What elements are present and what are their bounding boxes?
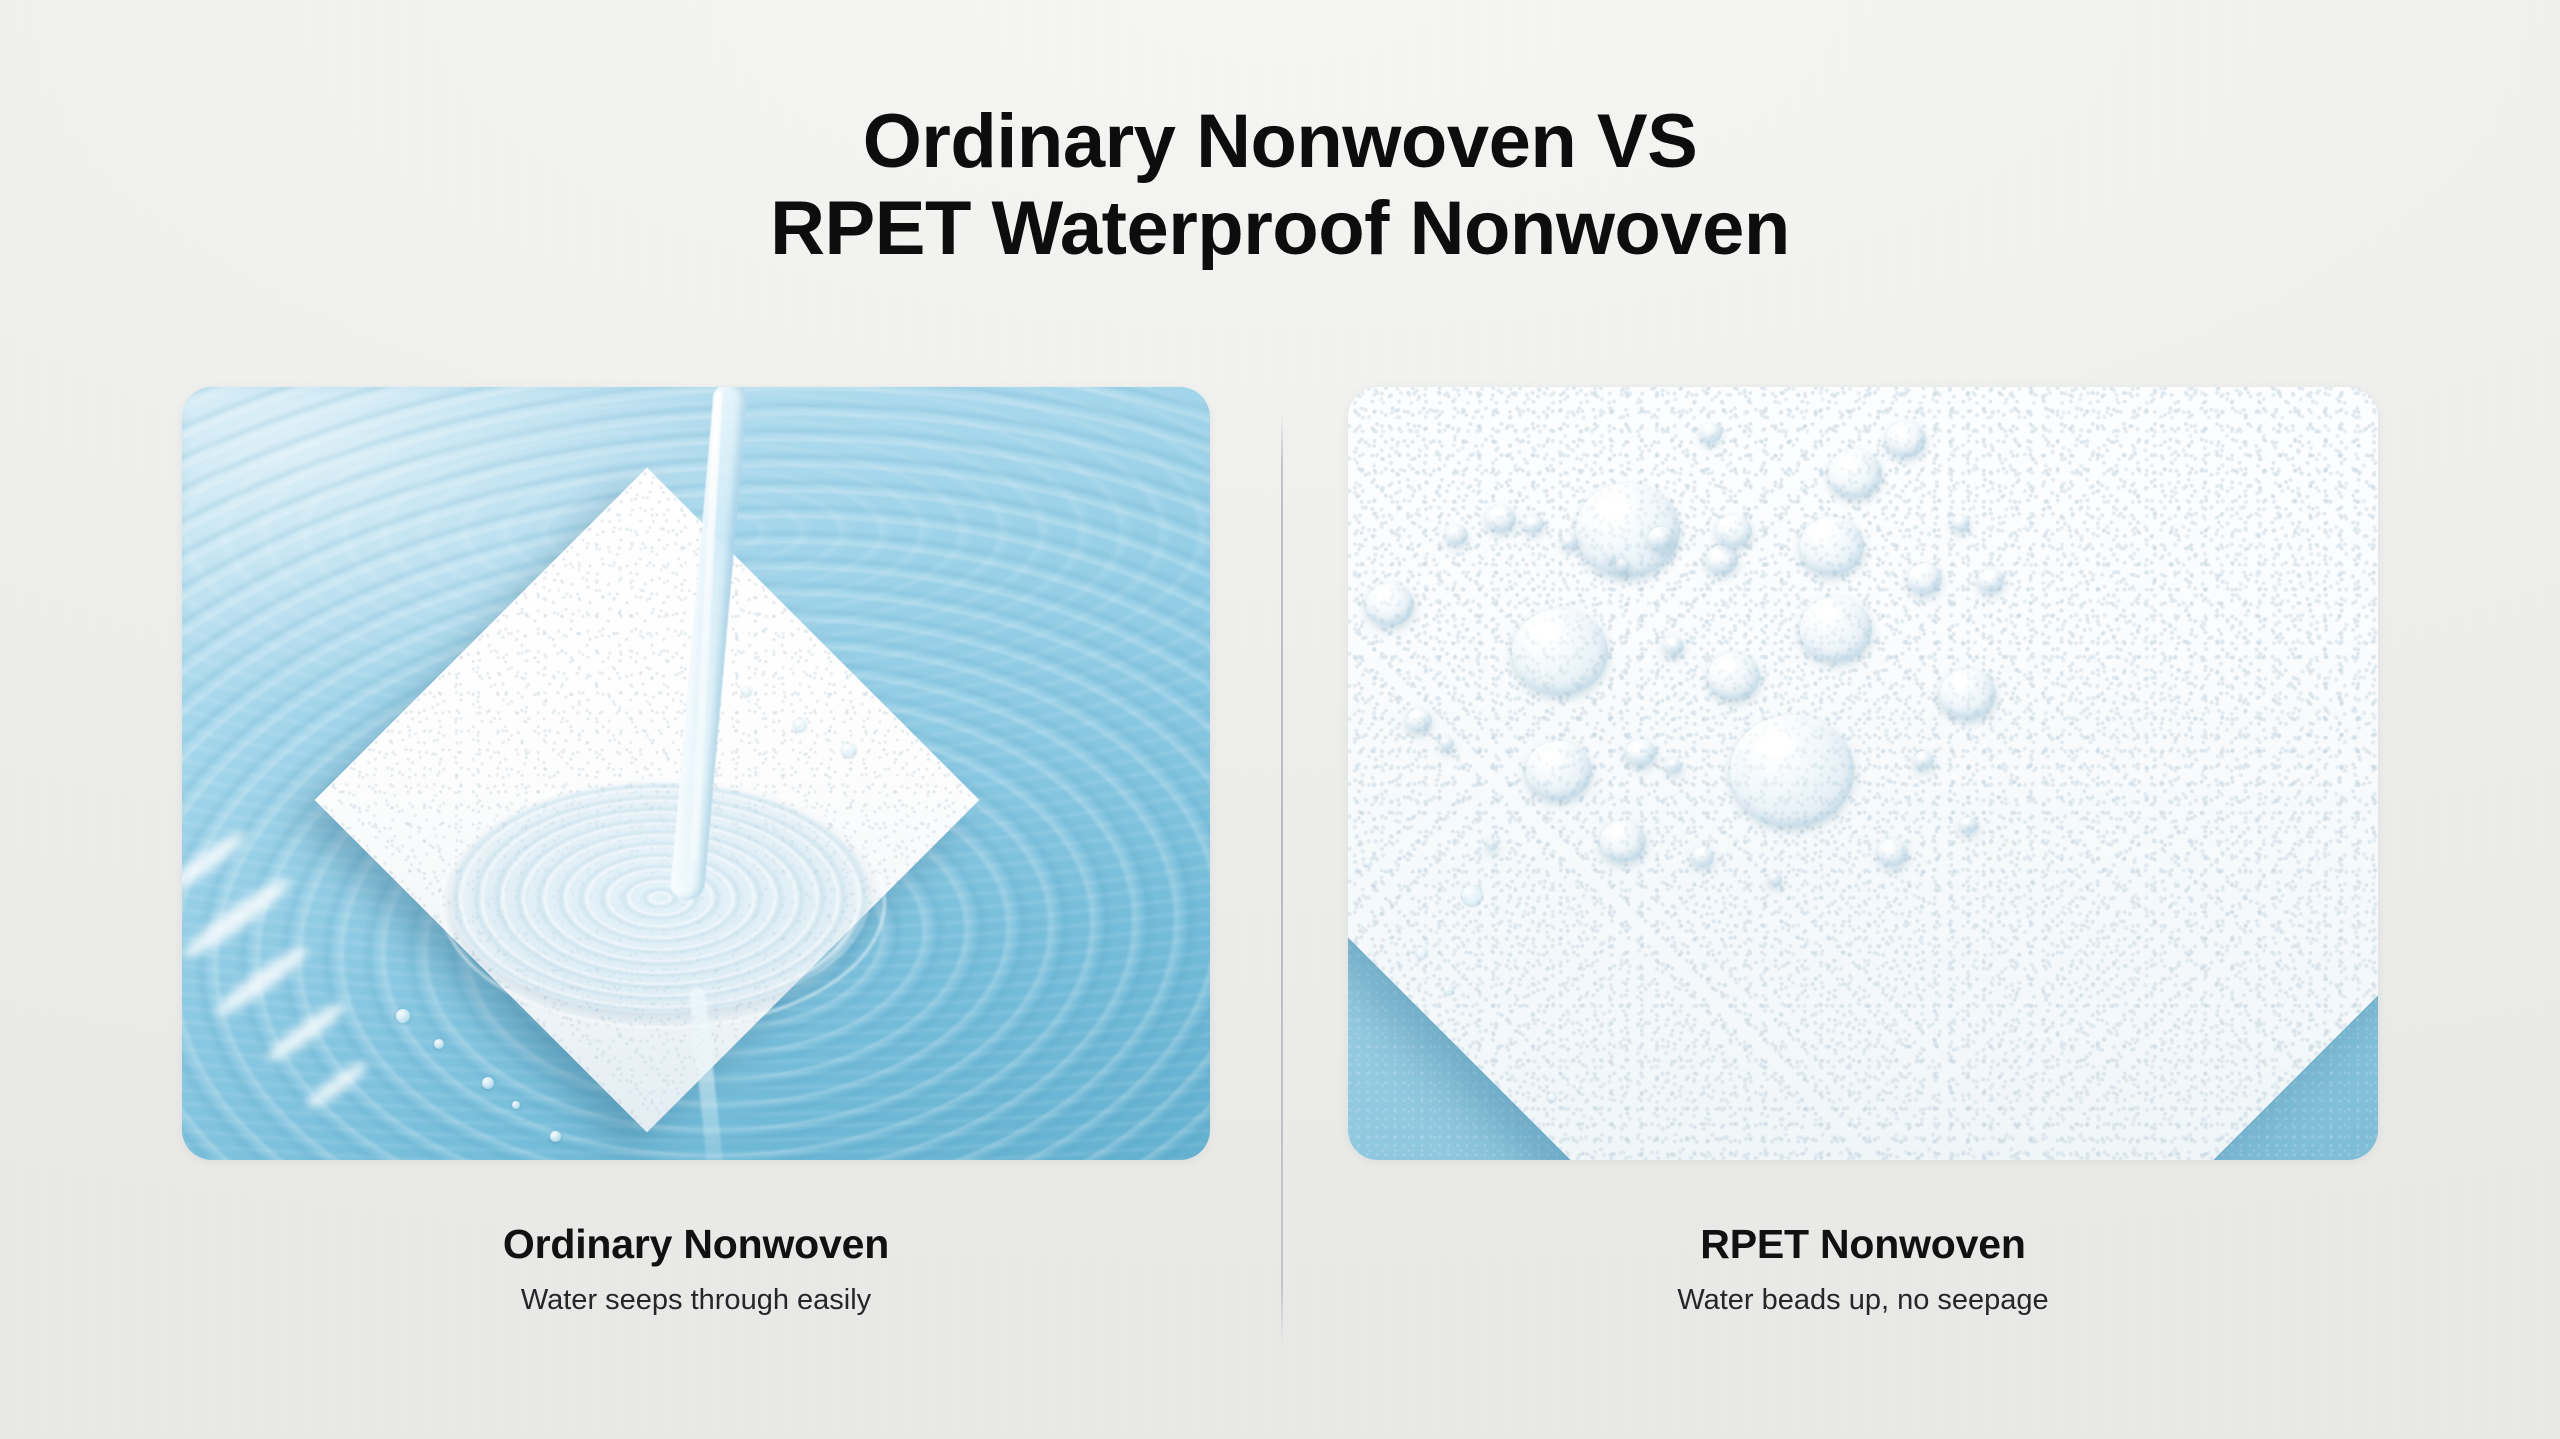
water-surface-background xyxy=(182,387,1210,1160)
rpet-nonwoven-caption: RPET Nonwoven Water beads up, no seepage xyxy=(1348,1222,2378,1318)
vertical-divider xyxy=(1281,412,1283,1347)
water-droplet xyxy=(1886,421,1926,457)
caption-subtitle: Water seeps through easily xyxy=(182,1283,1210,1318)
page-title: Ordinary Nonwoven VS RPET Waterproof Non… xyxy=(0,99,2560,272)
caption-title: Ordinary Nonwoven xyxy=(182,1222,1210,1267)
rpet-sheet-clip xyxy=(1348,387,2378,1160)
caption-title: RPET Nonwoven xyxy=(1348,1222,2378,1267)
water-droplet xyxy=(1616,559,1630,572)
water-droplet xyxy=(1800,597,1872,662)
water-droplet xyxy=(1486,839,1498,850)
water-droplet xyxy=(1730,715,1854,827)
water-bead xyxy=(550,1131,561,1142)
water-droplet xyxy=(1486,505,1516,532)
water-droplet xyxy=(1440,737,1454,750)
water-droplet xyxy=(1708,653,1760,700)
water-droplet xyxy=(1446,525,1468,545)
water-bead xyxy=(842,743,856,757)
water-droplet xyxy=(1524,515,1544,533)
water-bead xyxy=(1462,885,1482,905)
water-droplet xyxy=(1664,637,1684,655)
water-droplet xyxy=(1706,545,1738,574)
ordinary-nonwoven-caption: Ordinary Nonwoven Water seeps through ea… xyxy=(182,1222,1210,1318)
poster-background: Ordinary Nonwoven VS RPET Waterproof Non… xyxy=(0,0,2560,1439)
water-droplet xyxy=(1768,873,1782,886)
page-title-line-1: Ordinary Nonwoven VS xyxy=(863,99,1698,184)
rpet-nonwoven-image-panel xyxy=(1348,387,2378,1160)
water-droplet xyxy=(1700,423,1722,443)
water-pool-rim xyxy=(440,775,886,1029)
water-droplet xyxy=(1908,563,1942,594)
water-bead xyxy=(512,1101,520,1109)
water-bead xyxy=(1444,985,1453,994)
water-bead xyxy=(434,1039,444,1049)
water-droplet xyxy=(1828,449,1882,498)
water-bead xyxy=(1548,1093,1556,1101)
water-bead xyxy=(742,687,751,696)
water-bead xyxy=(482,1077,494,1089)
water-bead xyxy=(396,1009,410,1023)
water-droplet xyxy=(1940,669,1996,719)
water-droplet xyxy=(1914,751,1934,769)
water-droplet xyxy=(1692,847,1714,867)
water-bead xyxy=(794,719,806,731)
water-droplet xyxy=(1526,741,1592,800)
water-droplet xyxy=(1606,553,1616,562)
rpet-nonwoven-sheet xyxy=(1348,387,2378,1160)
water-droplet xyxy=(1878,839,1908,866)
page-title-line-2: RPET Waterproof Nonwoven xyxy=(0,186,2560,273)
water-droplet xyxy=(1800,517,1864,575)
water-bead xyxy=(1416,947,1427,958)
blue-surface-background xyxy=(1348,387,2378,1160)
water-droplet xyxy=(1600,821,1646,862)
water-bead xyxy=(1364,859,1371,866)
water-droplet xyxy=(1512,609,1608,695)
fabric-texture xyxy=(1348,387,2378,1160)
ordinary-nonwoven-image-panel xyxy=(182,387,1210,1160)
water-droplet xyxy=(1366,583,1414,626)
caption-subtitle: Water beads up, no seepage xyxy=(1348,1283,2378,1318)
water-droplet xyxy=(1626,739,1656,766)
